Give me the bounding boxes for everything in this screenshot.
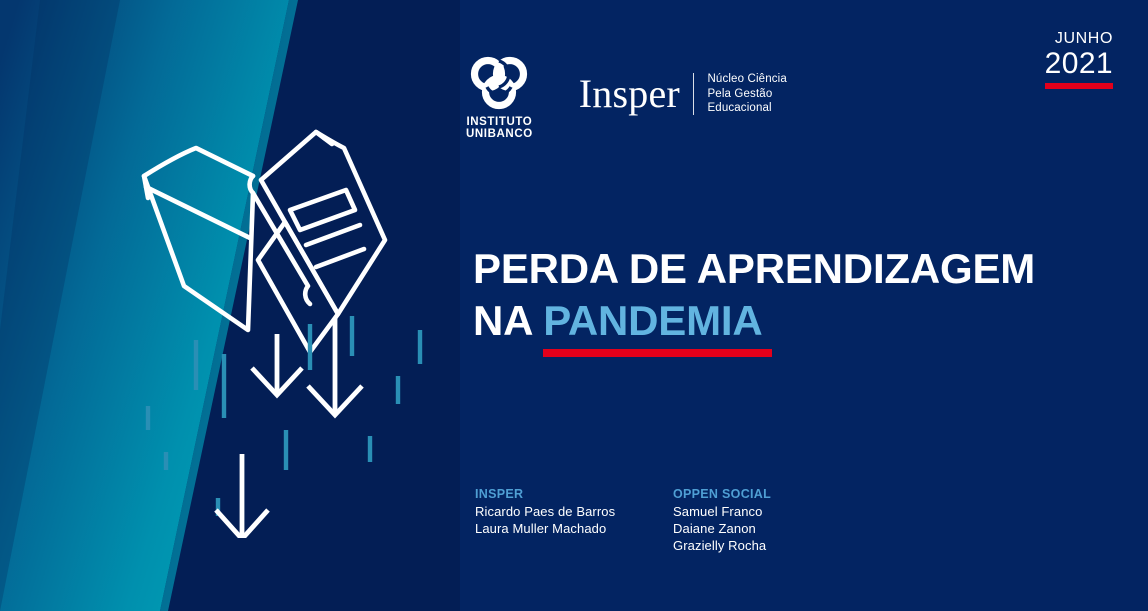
insper-subtitle: Núcleo Ciência Pela Gestão Educacional <box>707 72 786 115</box>
credit-org-name: INSPER <box>475 486 627 502</box>
credit-column-oppen-social: OPPEN SOCIAL Samuel Franco Daiane Zanon … <box>673 486 825 554</box>
insper-sub-line-1: Núcleo Ciência <box>707 72 786 86</box>
credits: INSPER Ricardo Paes de Barros Laura Mull… <box>475 486 825 554</box>
title-line-1: PERDA DE APRENDIZAGEM <box>473 243 1035 295</box>
page-title: PERDA DE APRENDIZAGEM NA PANDEMIA <box>473 243 1035 357</box>
credit-person: Daiane Zanon <box>673 520 825 537</box>
trefoil-knot-icon <box>467 54 531 110</box>
insper-sub-line-2: Pela Gestão <box>707 87 786 101</box>
instituto-unibanco-logo: INSTITUTO UNIBANCO <box>466 54 533 140</box>
down-arrow-icon <box>216 454 268 538</box>
title-line-2-prefix: NA <box>473 297 543 344</box>
iu-line-2: UNIBANCO <box>466 129 533 141</box>
credit-person: Samuel Franco <box>673 503 825 520</box>
insper-divider <box>693 73 695 115</box>
logo-row: INSTITUTO UNIBANCO Insper Núcleo Ciência… <box>466 54 787 140</box>
iu-line-1: INSTITUTO <box>466 117 533 129</box>
credit-org-name: OPPEN SOCIAL <box>673 486 825 502</box>
date-year: 2021 <box>1045 48 1113 80</box>
credit-person: Laura Muller Machado <box>475 520 627 537</box>
date-month: JUNHO <box>1045 30 1113 48</box>
title-line-2: NA PANDEMIA <box>473 295 1035 347</box>
open-book-with-falling-arrows-illustration <box>120 118 450 538</box>
date-badge: JUNHO 2021 <box>1045 30 1113 89</box>
credit-column-insper: INSPER Ricardo Paes de Barros Laura Mull… <box>475 486 627 554</box>
instituto-unibanco-wordmark: INSTITUTO UNIBANCO <box>466 117 533 140</box>
title-underline-rule <box>543 349 772 357</box>
insper-wordmark: Insper <box>579 74 680 114</box>
down-arrow-icon-group <box>216 318 362 538</box>
open-book-icon <box>144 132 385 352</box>
credit-person: Grazielly Rocha <box>673 537 825 554</box>
date-underline-rule <box>1045 83 1113 89</box>
insper-logo: Insper Núcleo Ciência Pela Gestão Educac… <box>579 72 787 115</box>
credit-person: Ricardo Paes de Barros <box>475 503 627 520</box>
insper-sub-line-3: Educacional <box>707 101 786 115</box>
title-slide: INSTITUTO UNIBANCO Insper Núcleo Ciência… <box>0 0 1148 611</box>
title-line-2-accent: PANDEMIA <box>543 297 762 344</box>
rain-line-group <box>148 316 420 516</box>
down-arrow-icon <box>252 334 302 395</box>
